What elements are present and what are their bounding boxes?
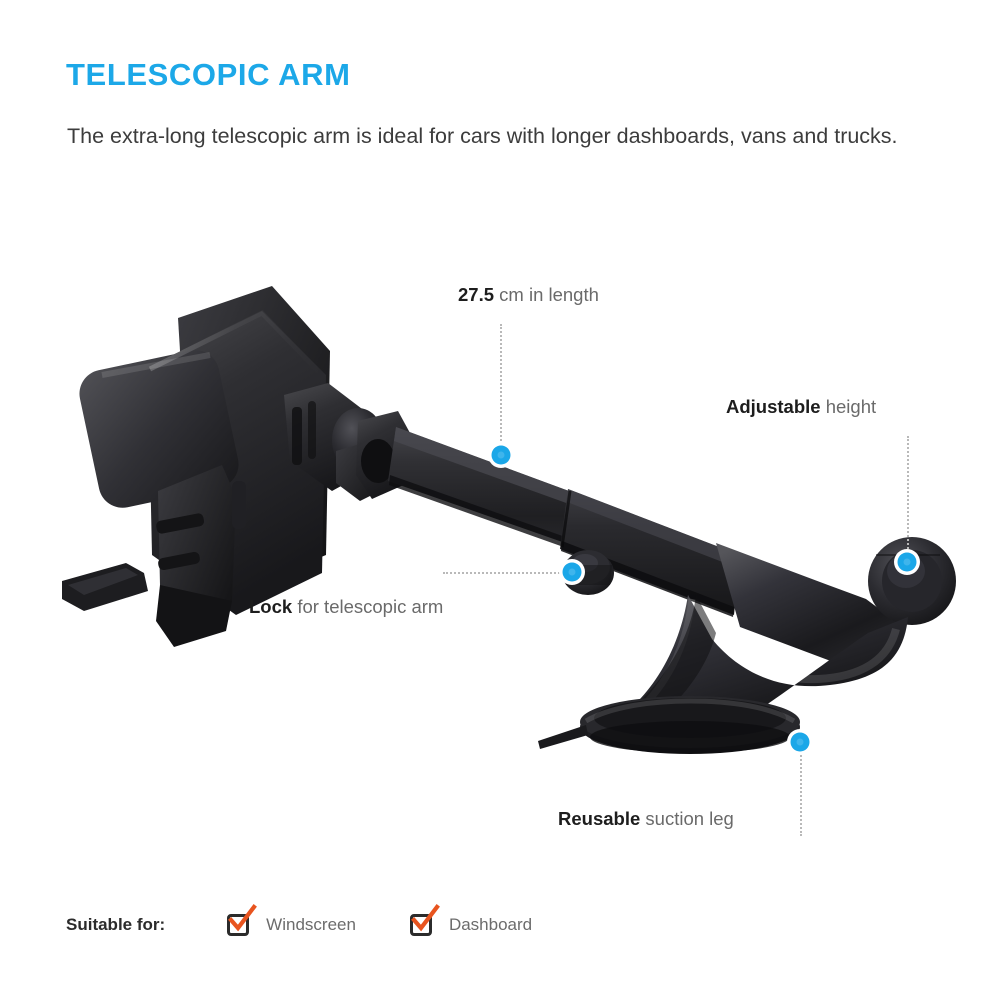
leader-line-length	[500, 324, 502, 448]
marker-dot-suction	[791, 733, 810, 752]
cradle-side-buttons	[155, 481, 246, 571]
suitable-for-row: Suitable for: Windscreen Dashboard	[66, 905, 586, 945]
page-title: TELESCOPIC ARM	[66, 58, 351, 92]
callout-lock-rest: for telescopic arm	[292, 596, 443, 617]
leader-line-height	[907, 436, 909, 552]
leader-line-lock	[443, 572, 563, 574]
adjustable-ball-head	[716, 537, 956, 663]
callout-length-rest: cm in length	[494, 284, 599, 305]
infographic-page: TELESCOPIC ARM The extra-long telescopic…	[0, 0, 1000, 1000]
marker-dot-length	[492, 446, 511, 465]
callout-label-length: 27.5 cm in length	[458, 286, 599, 305]
ball-joint-neck	[284, 383, 410, 501]
orange-check-icon	[409, 905, 439, 935]
curved-support-neck	[616, 595, 908, 723]
suction-release-tab	[538, 725, 588, 749]
callout-label-suction: Reusable suction leg	[558, 810, 734, 829]
marker-dot-height	[898, 553, 917, 572]
callout-length-strong: 27.5	[458, 284, 494, 305]
check-label-dashboard: Dashboard	[449, 915, 532, 935]
callout-suction-strong: Reusable	[558, 808, 640, 829]
suction-cup-base	[538, 696, 800, 754]
telescopic-arm-outer	[560, 489, 740, 617]
callout-suction-rest: suction leg	[640, 808, 734, 829]
checkbox-windscreen[interactable]	[227, 912, 253, 938]
callout-height-strong: Adjustable	[726, 396, 821, 417]
page-description: The extra-long telescopic arm is ideal f…	[67, 120, 967, 153]
leader-line-suction	[800, 752, 802, 836]
callout-height-rest: height	[821, 396, 877, 417]
callout-label-lock: Lock for telescopic arm	[249, 598, 443, 617]
orange-check-icon	[226, 905, 256, 935]
suitable-for-label: Suitable for:	[66, 915, 165, 935]
phone-cradle	[62, 286, 330, 647]
checkbox-dashboard[interactable]	[410, 912, 436, 938]
check-label-windscreen: Windscreen	[266, 915, 356, 935]
callout-label-height: Adjustable height	[726, 398, 876, 417]
check-item-windscreen[interactable]: Windscreen	[227, 912, 356, 938]
check-item-dashboard[interactable]: Dashboard	[410, 912, 532, 938]
callout-lock-strong: Lock	[249, 596, 292, 617]
product-illustration	[40, 255, 970, 775]
telescopic-arm-inner	[388, 427, 596, 555]
bottom-support-foot	[62, 563, 148, 611]
marker-dot-lock	[563, 563, 582, 582]
